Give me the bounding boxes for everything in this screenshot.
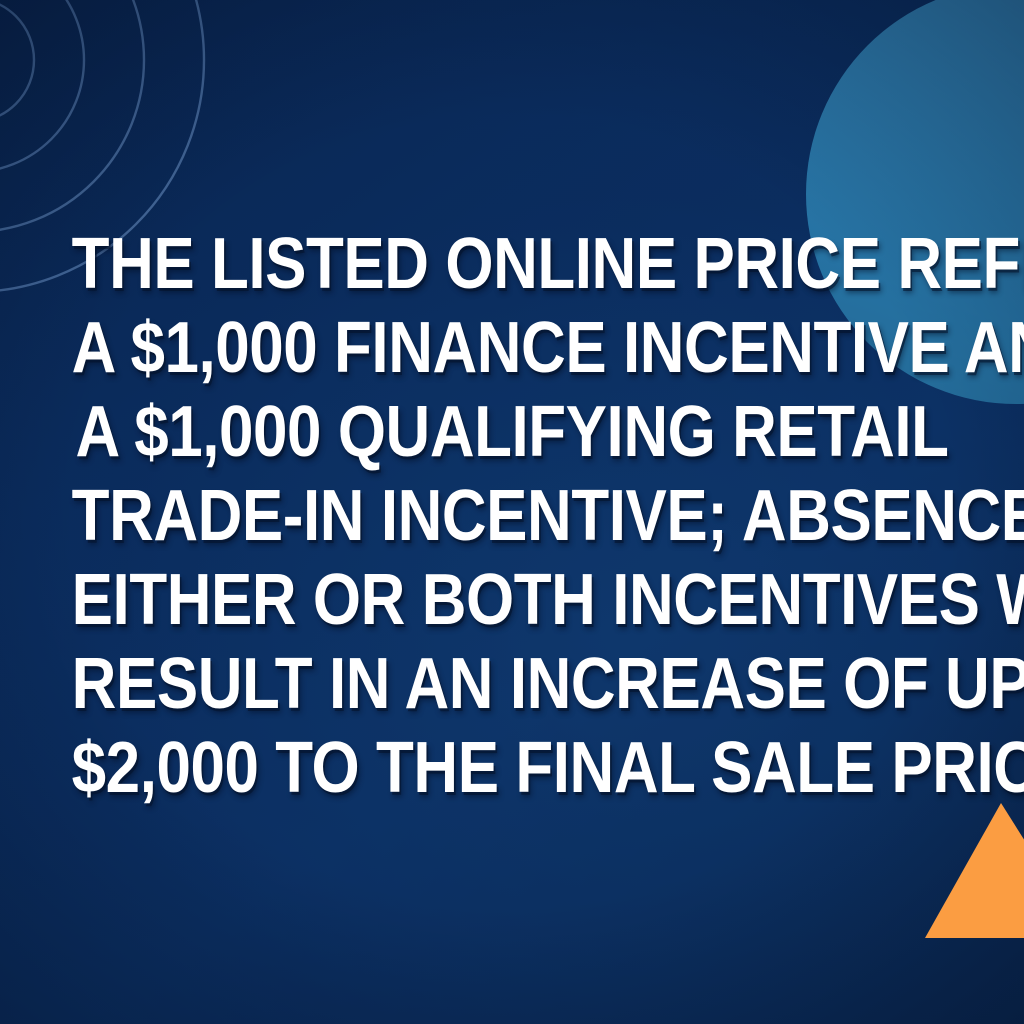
disclaimer-line-1: THE LISTED ONLINE PRICE REFLECTS (72, 222, 953, 306)
disclaimer-text-block: THE LISTED ONLINE PRICE REFLECTS A $1,00… (0, 222, 1024, 810)
disclaimer-card: THE LISTED ONLINE PRICE REFLECTS A $1,00… (0, 0, 1024, 1024)
disclaimer-line-7: $2,000 TO THE FINAL SALE PRICE. (72, 726, 953, 810)
disclaimer-line-5: EITHER OR BOTH INCENTIVES WILL (72, 558, 953, 642)
disclaimer-line-6: RESULT IN AN INCREASE OF UP TO (72, 642, 953, 726)
triangle-shape (925, 803, 1024, 938)
arc-ring-1 (0, 0, 34, 122)
disclaimer-line-2: A $1,000 FINANCE INCENTIVE AND (72, 306, 953, 390)
accent-triangle-bottom-right (900, 790, 1024, 950)
disclaimer-line-3: A $1,000 QUALIFYING RETAIL (72, 390, 953, 474)
arc-ring-2 (0, 0, 84, 172)
arc-ring-3 (0, 0, 144, 232)
disclaimer-line-4: TRADE-IN INCENTIVE; ABSENCE OF (72, 474, 953, 558)
